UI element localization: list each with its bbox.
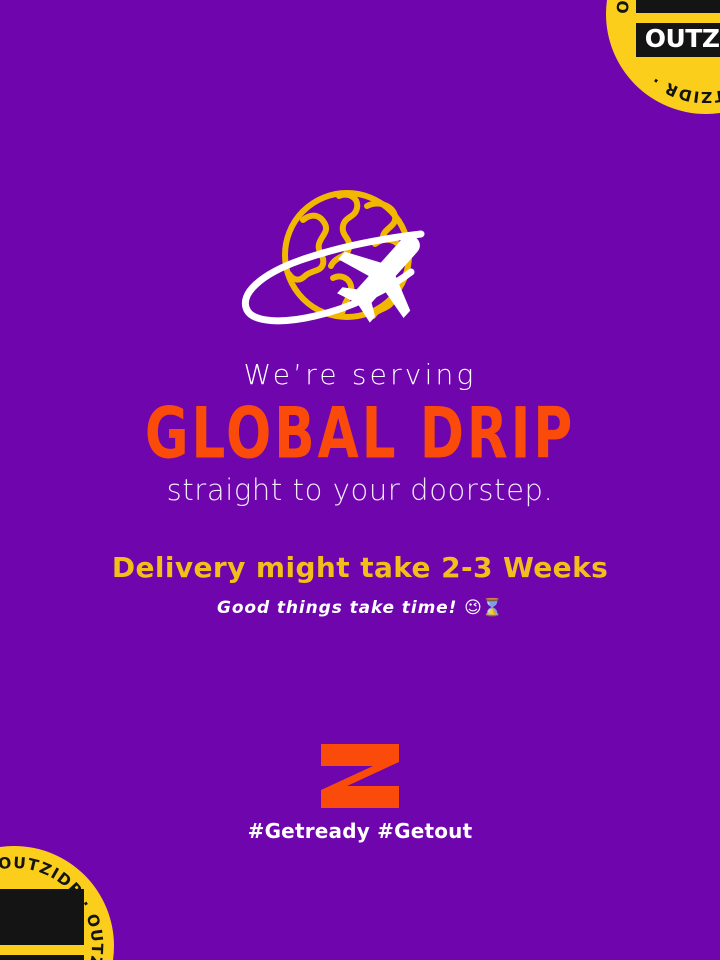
badge-core-bl: OUTZIDR xyxy=(0,871,89,960)
wink-hourglass-emoji: 😉⌛ xyxy=(464,598,503,618)
eyebrow-text: We’re serving xyxy=(0,360,720,391)
message-block: We’re serving GLOBAL DRIP straight to yo… xyxy=(0,360,720,618)
delivery-notice-text: Delivery might take 2-3 Weeks xyxy=(0,552,720,584)
footer-lockup: #Getready #Getout xyxy=(0,744,720,843)
badge-core-label-tr: OUTZIDR xyxy=(645,24,720,53)
brand-badge-top-right: OUTZIDR · OUTZIDR · OUTZIDR · OUTZIDR · … xyxy=(606,0,720,114)
hashtags-text: #Getready #Getout xyxy=(0,819,720,843)
reassurance-text: Good things take time! xyxy=(217,598,457,618)
subheadline-text: straight to your doorstep. xyxy=(0,475,720,507)
badge-core-tr: OUTZIDR xyxy=(631,0,720,89)
brand-badge-bottom-left: OUTZIDR · OUTZIDR · OUTZIDR · OUTZIDR · … xyxy=(0,846,114,960)
poster-canvas: OUTZIDR · OUTZIDR · OUTZIDR · OUTZIDR · … xyxy=(0,0,720,960)
reassurance-row: Good things take time! 😉⌛ xyxy=(0,598,720,618)
globe-airplane-illustration xyxy=(235,182,485,337)
badge-core-label-bl: OUTZIDR xyxy=(0,956,76,960)
z-logo-mark xyxy=(321,744,399,808)
headline-text: GLOBAL DRIP xyxy=(22,398,699,469)
